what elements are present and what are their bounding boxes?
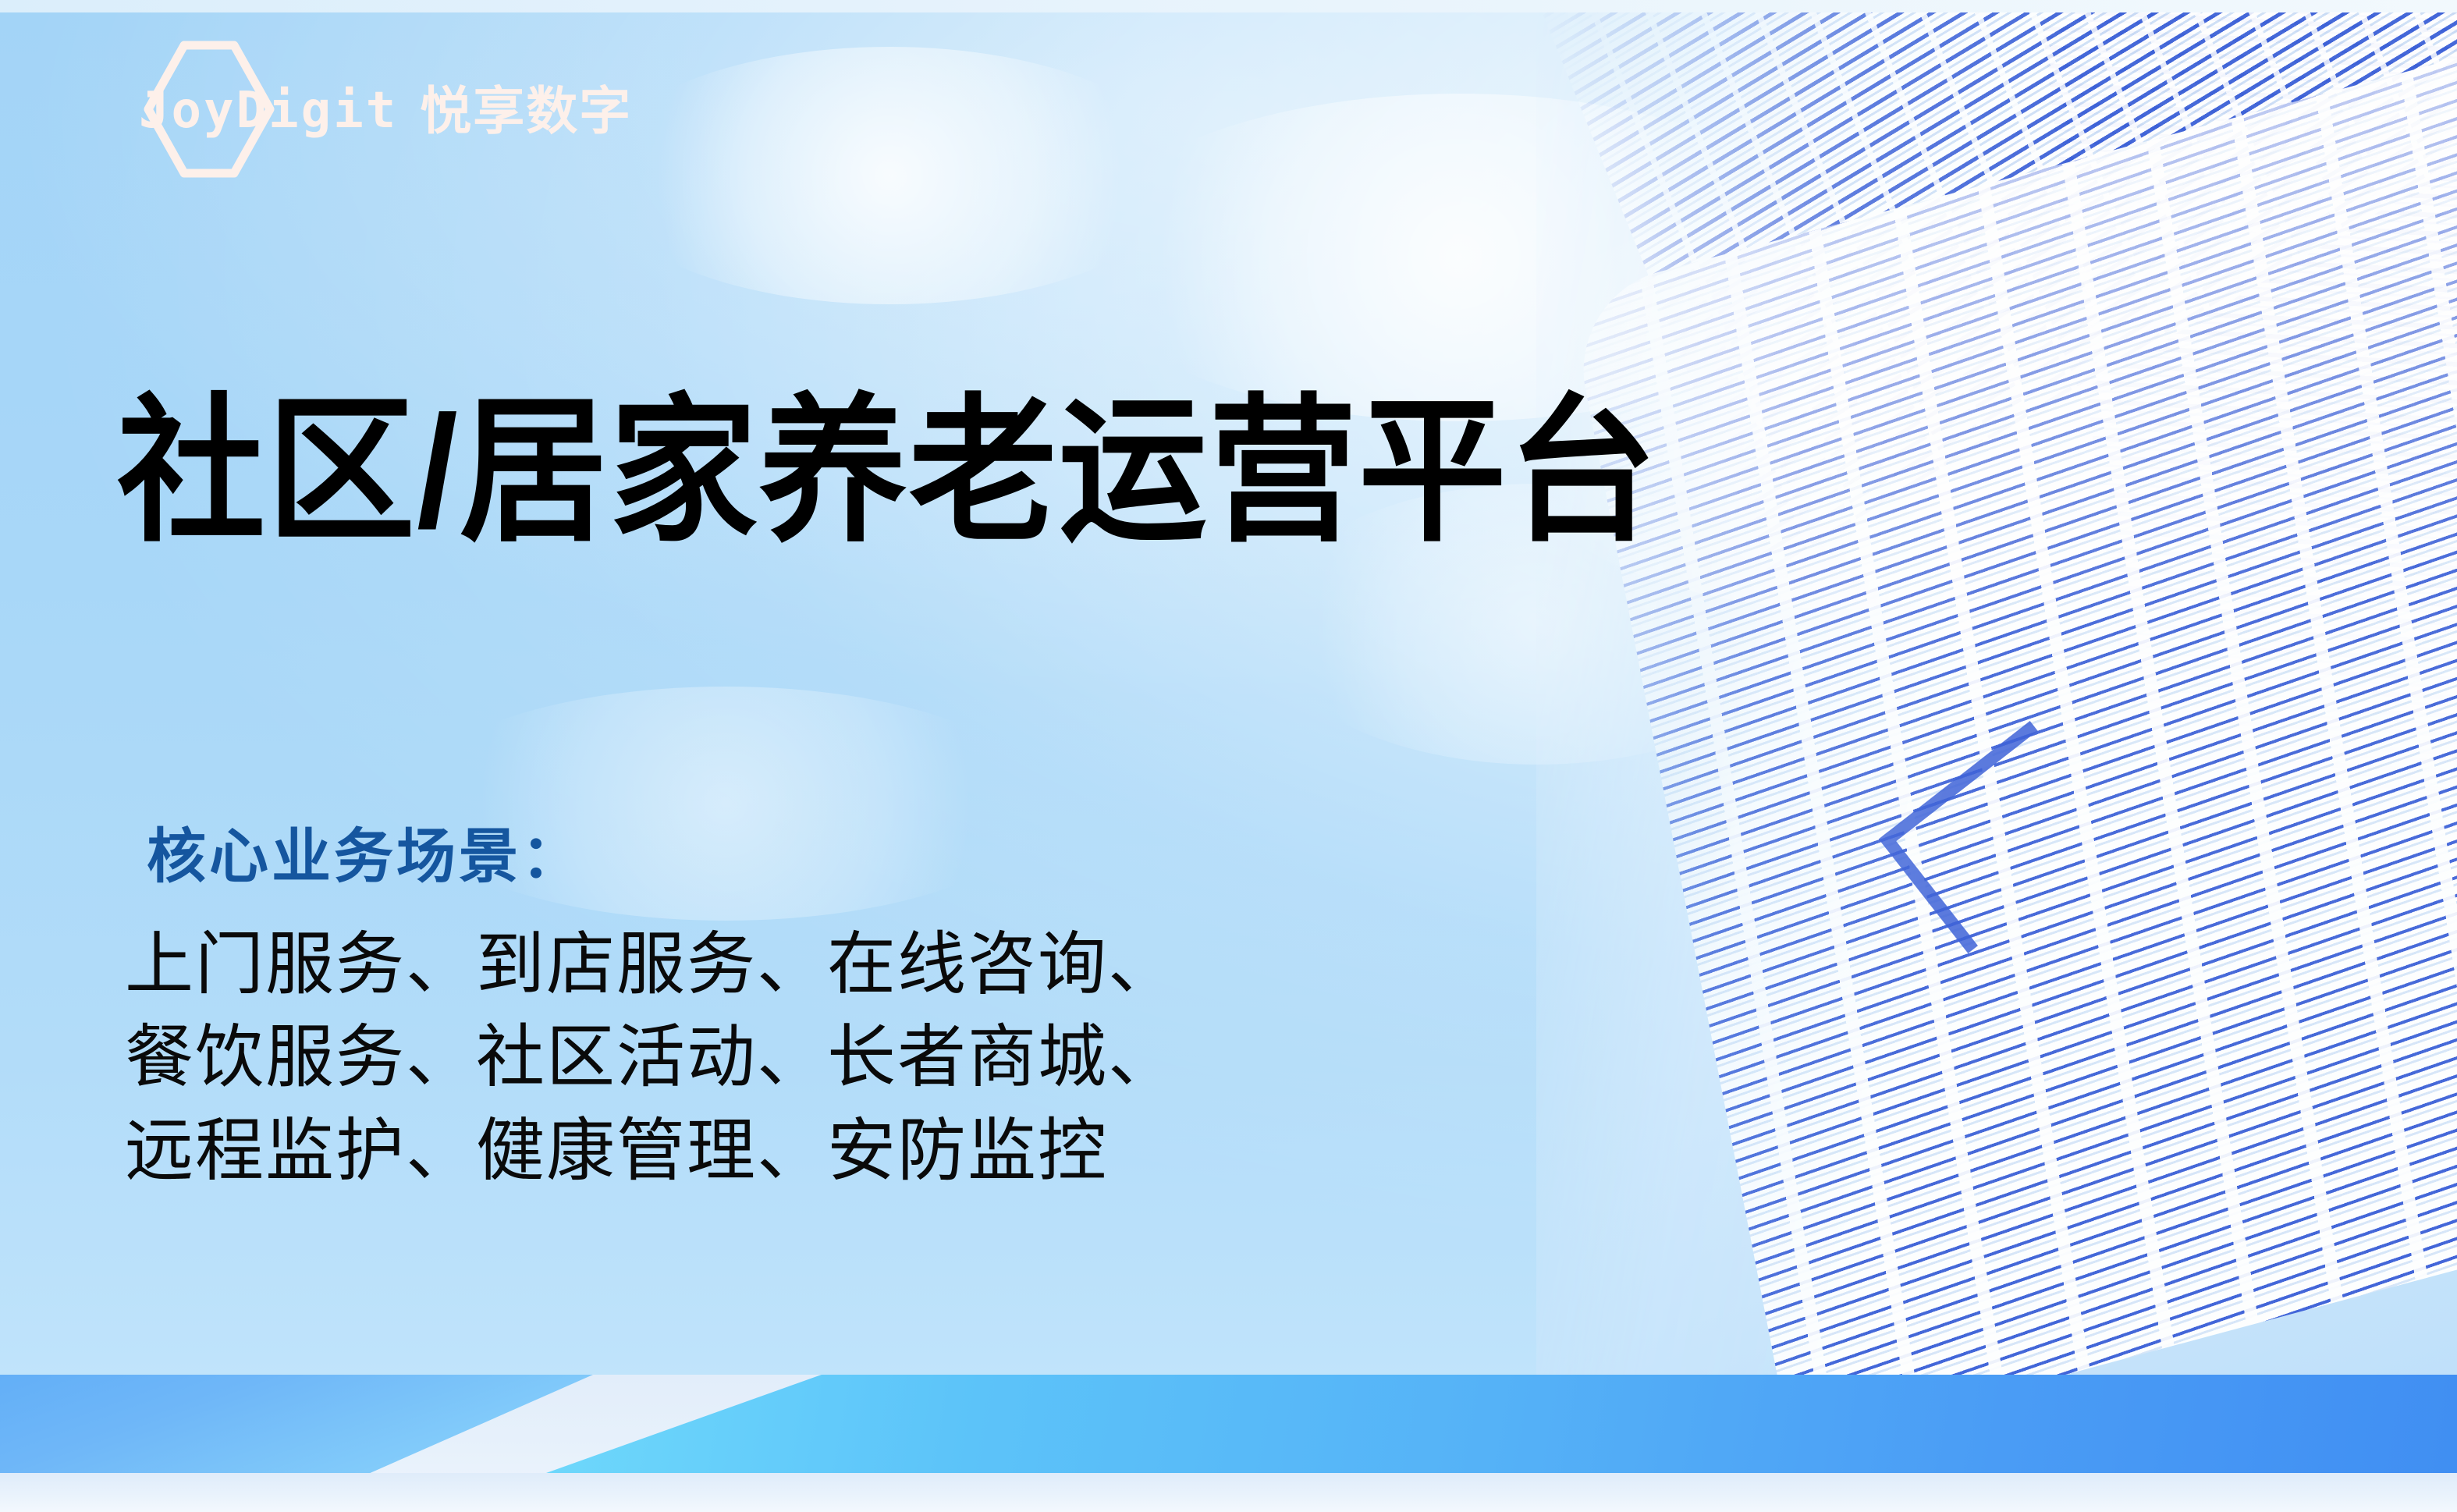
scenario-line: 远程监护、健康管理、安防监控 bbox=[125, 1109, 1178, 1192]
brand-logo: JoyDigit 悦享数字 bbox=[139, 75, 632, 147]
scenario-line: 上门服务、到店服务、在线咨询、 bbox=[125, 922, 1178, 1006]
scenario-list: 上门服务、到店服务、在线咨询、 餐饮服务、社区活动、长者商城、 远程监护、健康管… bbox=[125, 922, 1178, 1192]
bottom-decorative-band bbox=[0, 1375, 2457, 1512]
slide-canvas: JoyDigit 悦享数字 社区/居家养老运营平台 核心业务场景： 上门服务、到… bbox=[0, 0, 2457, 1512]
section-heading: 核心业务场景： bbox=[147, 820, 584, 894]
scenario-line: 餐饮服务、社区活动、长者商城、 bbox=[125, 1015, 1178, 1099]
top-edge-strip bbox=[0, 0, 2457, 12]
logo-chinese-name: 悦享数字 bbox=[420, 85, 632, 137]
logo-wordmark: JoyDigit bbox=[139, 86, 398, 136]
page-title: 社区/居家养老运营平台 bbox=[117, 378, 1658, 566]
band-underline bbox=[0, 1473, 2457, 1512]
skyscraper-photo bbox=[1536, 0, 2457, 1390]
band-main-shape bbox=[546, 1375, 2457, 1473]
